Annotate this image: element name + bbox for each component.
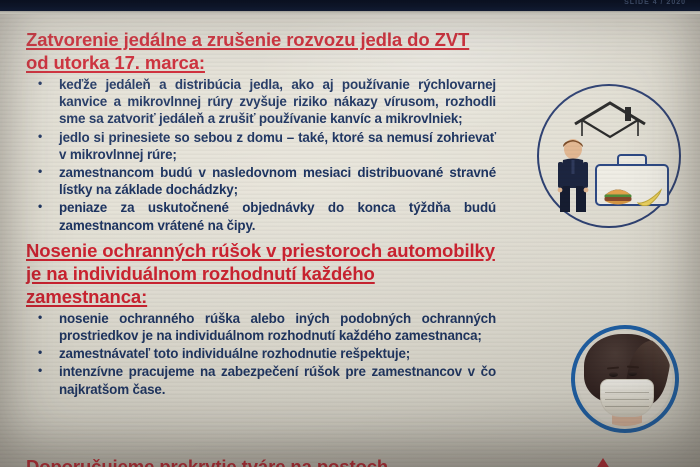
lunchbox-icon	[595, 154, 665, 202]
list-item: peniaze za uskutočnené objednávky do kon…	[26, 199, 496, 233]
heading-canteen-closure: Zatvorenie jedálne a zrušenie rozvozu je…	[26, 14, 496, 74]
heading-face-covering-partial: Doporučujeme prekrytie tváre na postoch	[26, 455, 586, 467]
list-item: keďže jedáleň a distribúcia jedla, ako a…	[26, 76, 496, 128]
list-item: nosenie ochranného rúška alebo iných pod…	[26, 310, 496, 344]
monitor-bezel-top: SLIDE 4 / 2020	[0, 0, 700, 11]
banana-icon	[637, 188, 663, 206]
house-roof-icon	[573, 100, 647, 140]
lunch-from-home-icon	[537, 84, 681, 228]
list-item: zamestnancom budú v nasledovnom mesiaci …	[26, 164, 496, 198]
slide-text-column: Zatvorenie jedálne a zrušenie rozvozu je…	[26, 14, 496, 399]
bezel-edge	[0, 11, 700, 14]
list-item: zamestnávateľ toto individuálne rozhodnu…	[26, 345, 496, 362]
lunchbox-body	[595, 164, 669, 206]
slide-surface: Zatvorenie jedálne a zrušenie rozvozu je…	[0, 14, 700, 467]
projected-slide-photo: SLIDE 4 / 2020 Zatvorenie jedálne a zruš…	[0, 0, 700, 467]
slide-content: Zatvorenie jedálne a zrušenie rozvozu je…	[0, 14, 700, 467]
eye-left	[609, 372, 618, 377]
employee-figure-icon	[557, 138, 589, 212]
face-mask-photo	[571, 325, 679, 433]
masked-woman-image	[578, 332, 672, 426]
bullet-list-canteen: keďže jedáleň a distribúcia jedla, ako a…	[26, 76, 496, 234]
list-item: jedlo si prinesiete so sebou z domu – ta…	[26, 129, 496, 163]
red-triangle-marker	[592, 458, 614, 467]
list-item: intenzívne pracujeme na zabezpečení rúšo…	[26, 363, 496, 397]
eye-right	[628, 371, 637, 376]
bullet-list-masks: nosenie ochranného rúška alebo iných pod…	[26, 310, 496, 398]
slide-corner-text: SLIDE 4 / 2020	[624, 0, 686, 6]
surgical-mask	[600, 379, 654, 417]
heading-face-masks: Nosenie ochranných rúšok v priestoroch a…	[26, 235, 496, 308]
burger-icon	[603, 184, 633, 208]
